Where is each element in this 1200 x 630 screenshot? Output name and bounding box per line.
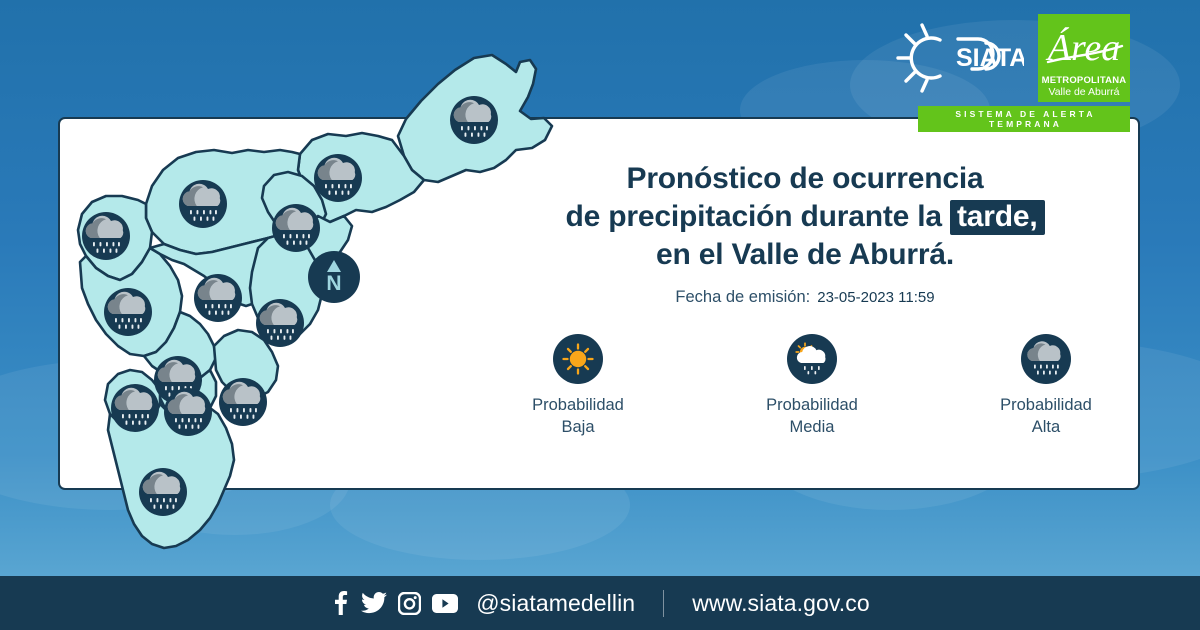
cloud-rain-icon [1021, 334, 1071, 384]
social-handle[interactable]: @siatamedellin [476, 590, 635, 617]
siata-logo: SIATA [896, 22, 1024, 94]
title-highlight-tarde: tarde, [950, 200, 1045, 235]
amva-script-icon: Área [1038, 16, 1130, 74]
page-title: Pronóstico de ocurrencia de precipitació… [470, 160, 1140, 273]
youtube-icon[interactable] [432, 594, 458, 613]
logo-group: SIATA Área METROPOLITANA Valle de Aburrá… [896, 14, 1130, 132]
instagram-icon[interactable] [398, 592, 421, 615]
logo-row: SIATA Área METROPOLITANA Valle de Aburrá [896, 14, 1130, 102]
website-url[interactable]: www.siata.gov.co [692, 590, 870, 617]
legend-label-line2: Baja [532, 417, 624, 438]
legend-label-line1: Probabilidad [766, 395, 858, 416]
legend-label-line2: Media [766, 417, 858, 438]
probability-legend: Probabilidad Baja [470, 334, 1140, 437]
legend-item-alta: Probabilidad Alta [971, 334, 1121, 437]
social-icons [330, 591, 458, 615]
sun-cloud-rain-icon [787, 334, 837, 384]
amva-logo-line1: METROPOLITANA [1042, 76, 1127, 86]
svg-text:Área: Área [1045, 27, 1120, 69]
title-line-1: Pronóstico de ocurrencia [470, 160, 1140, 198]
facebook-icon[interactable] [330, 591, 350, 615]
emission-date: Fecha de emisión: 23-05-2023 11:59 [470, 288, 1140, 307]
twitter-icon[interactable] [361, 592, 387, 614]
legend-label-baja: Probabilidad Baja [532, 395, 624, 437]
amva-logo-line2: Valle de Aburrá [1048, 86, 1119, 98]
siata-tagline: SISTEMA DE ALERTA TEMPRANA [918, 106, 1130, 132]
title-line-3: en el Valle de Aburrá. [470, 236, 1140, 274]
title-line-2: de precipitación durante la tarde, [470, 198, 1140, 236]
legend-item-media: Probabilidad Media [737, 334, 887, 437]
footer-bar: @siatamedellin www.siata.gov.co [0, 576, 1200, 630]
legend-item-baja: Probabilidad Baja [503, 334, 653, 437]
legend-label-line1: Probabilidad [532, 395, 624, 416]
sun-icon [553, 334, 603, 384]
emission-date-value: 23-05-2023 11:59 [817, 289, 934, 306]
siata-logo-text: SIATA [956, 44, 1024, 72]
legend-label-line2: Alta [1000, 417, 1092, 438]
legend-label-alta: Probabilidad Alta [1000, 395, 1092, 437]
legend-label-line1: Probabilidad [1000, 395, 1092, 416]
legend-label-media: Probabilidad Media [766, 395, 858, 437]
amva-logo: Área METROPOLITANA Valle de Aburrá [1038, 14, 1130, 102]
forecast-panel: Pronóstico de ocurrencia de precipitació… [470, 160, 1140, 438]
title-line-2-text: de precipitación durante la [566, 200, 951, 233]
footer-divider [663, 590, 664, 617]
emission-date-label: Fecha de emisión: [675, 288, 810, 307]
